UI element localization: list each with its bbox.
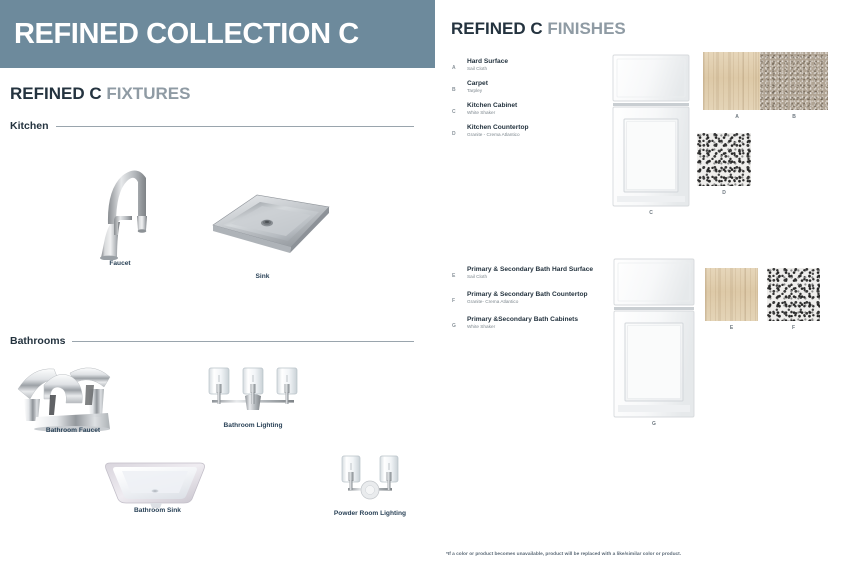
legend-name: Carpet <box>467 80 488 87</box>
group-rule <box>56 126 414 127</box>
finishes-title-strong: REFINED C <box>451 19 543 38</box>
legend-letter: C <box>452 109 456 115</box>
fixture-kitchen-sink: Sink <box>205 185 320 290</box>
cabinet-label: G <box>612 421 696 427</box>
fixture-caption: Bathroom Lighting <box>224 422 283 429</box>
swatch-f: F <box>767 268 820 321</box>
swatch-label: E <box>705 325 758 331</box>
fixtures-panel-title: REFINED C FIXTURES <box>10 84 190 104</box>
fixture-powder-room-lighting: Powder Room Lighting <box>330 450 410 522</box>
cabinet-door-g: G <box>612 257 696 419</box>
group-header-kitchen: Kitchen <box>10 120 414 132</box>
swatch-d-texture <box>697 133 751 186</box>
legend-letter: A <box>452 65 456 71</box>
fixture-caption: Sink <box>256 273 270 280</box>
fixture-kitchen-faucet: Faucet <box>75 140 165 280</box>
fixture-caption: Powder Room Lighting <box>334 510 406 517</box>
fixture-caption: Faucet <box>109 260 130 267</box>
finishes-panel-title: REFINED C FINISHES <box>451 19 626 39</box>
legend-letter: E <box>452 273 455 279</box>
swatch-b: B <box>760 52 828 110</box>
legend-letter: G <box>452 323 456 329</box>
swatch-label: F <box>767 325 820 331</box>
vanity-light-2-icon <box>330 450 410 513</box>
legend-sub: Sail Cloth <box>467 66 487 71</box>
fixtures-title-strong: REFINED C <box>10 84 102 103</box>
kitchen-sink-icon <box>205 185 320 275</box>
kitchen-faucet-icon <box>75 140 165 265</box>
legend-sub: Sail Cloth <box>467 274 487 279</box>
legend-sub: White Shaker <box>467 110 495 115</box>
fixture-bathroom-lighting: Bathroom Lighting <box>198 362 308 437</box>
bathroom-sink-icon <box>100 455 215 515</box>
swatch-label: B <box>760 114 828 120</box>
swatch-d: D <box>697 133 751 186</box>
swatch-e: E <box>705 268 758 321</box>
design-board: REFINED COLLECTION C REFINED C FIXTURES … <box>0 0 853 569</box>
legend-sub: Tarpley <box>467 88 482 93</box>
group-header-bathrooms: Bathrooms <box>10 335 414 347</box>
group-label-bathrooms: Bathrooms <box>10 335 72 347</box>
swatch-label: D <box>697 190 751 196</box>
fixture-caption: Bathroom Sink <box>134 507 181 514</box>
vanity-light-3-icon <box>198 362 308 425</box>
legend-name: Primary & Secondary Bath Countertop <box>467 291 588 298</box>
cabinet-door-c: C <box>611 53 691 208</box>
fixture-bathroom-sink: Bathroom Sink <box>100 455 215 525</box>
group-label-kitchen: Kitchen <box>10 120 56 132</box>
bathroom-faucet-icon <box>10 355 130 438</box>
collection-banner: REFINED COLLECTION C <box>0 0 435 68</box>
legend-name: Kitchen Countertop <box>467 124 529 131</box>
swatch-f-texture <box>767 268 820 321</box>
legend-letter: F <box>452 298 455 304</box>
legend-name: Kitchen Cabinet <box>467 102 517 109</box>
fixture-caption: Bathroom Faucet <box>46 427 100 434</box>
legend-name: Primary & Secondary Bath Hard Surface <box>467 266 593 273</box>
legend-sub: White Shaker <box>467 324 495 329</box>
swatch-b-texture <box>760 52 828 110</box>
fixtures-title-light: FIXTURES <box>106 84 190 103</box>
fixture-bathroom-faucet: Bathroom Faucet <box>10 355 130 450</box>
legend-name: Hard Surface <box>467 58 508 65</box>
legend-sub: Granite - Crema Atlantico <box>467 132 520 137</box>
swatch-e-texture <box>705 268 758 321</box>
legend-sub: Granite- Crema Atlantico <box>467 299 518 304</box>
cabinet-label: C <box>611 210 691 216</box>
disclaimer-note: *If a color or product becomes unavailab… <box>446 552 681 557</box>
legend-name: Primary &Secondary Bath Cabinets <box>467 316 578 323</box>
banner-title: REFINED COLLECTION C <box>0 18 359 51</box>
legend-letter: B <box>452 87 456 93</box>
group-rule <box>72 341 414 342</box>
legend-letter: D <box>452 131 456 137</box>
finishes-title-light: FINISHES <box>547 19 625 38</box>
